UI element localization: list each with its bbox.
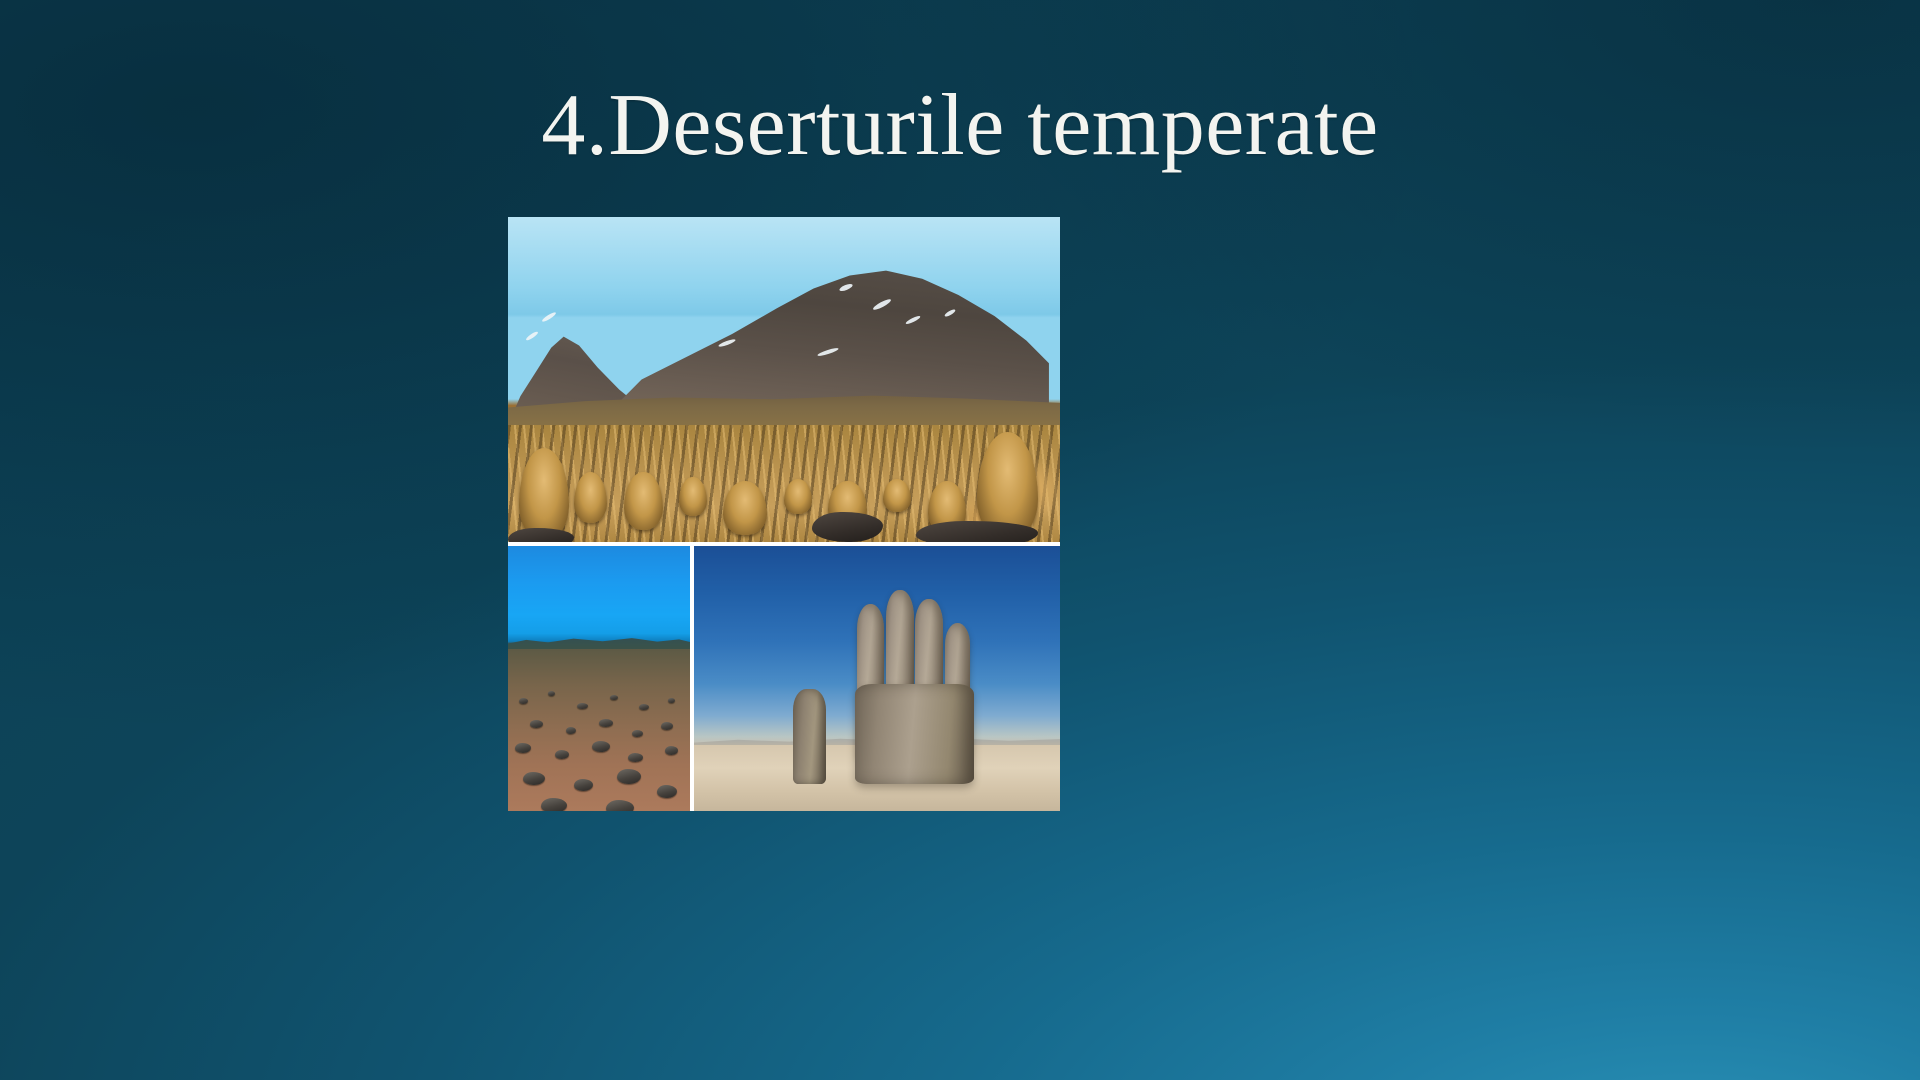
grass-tuft (519, 448, 569, 539)
rock (812, 512, 884, 542)
rock (639, 704, 649, 710)
rock (661, 722, 673, 730)
rock (577, 703, 588, 709)
rock (523, 772, 545, 785)
photo-surface (508, 546, 690, 811)
photo-surface (508, 217, 1060, 542)
image-mountain-altiplano[interactable] (508, 217, 1060, 542)
rock (632, 730, 643, 737)
grass-tuft (784, 479, 812, 514)
sculpture-palm (855, 684, 974, 785)
rock (668, 698, 675, 703)
rock (628, 753, 643, 762)
image-hand-of-the-desert[interactable] (694, 546, 1060, 811)
rock (610, 695, 618, 700)
rock (508, 528, 574, 542)
sculpture-thumb (793, 689, 826, 784)
image-stony-desert[interactable] (508, 546, 690, 811)
grass-tuft (723, 481, 767, 535)
rock (617, 769, 641, 784)
snow-patch (541, 311, 557, 323)
photo-surface (694, 546, 1060, 811)
grass-tuft (679, 477, 707, 517)
rock (519, 698, 528, 704)
page-title: 4.Deserturile temperate (0, 78, 1920, 175)
rock (606, 800, 634, 811)
rock (530, 720, 543, 728)
rock (541, 798, 567, 811)
rock (599, 719, 613, 727)
stony-ground (508, 649, 690, 811)
rock (566, 727, 576, 734)
rock (515, 743, 531, 753)
snow-patch (525, 330, 539, 341)
grass-tuft (883, 479, 911, 512)
grass-tuft (574, 472, 607, 523)
presentation-slide: 4.Deserturile temperate (0, 0, 1920, 1080)
grass-tuft (624, 472, 663, 531)
rock (548, 691, 555, 696)
rock (574, 779, 593, 791)
rock (916, 521, 1037, 542)
collage-bottom-row (508, 546, 1060, 811)
rock (592, 741, 610, 752)
rock (657, 785, 677, 798)
rock (555, 750, 569, 759)
rock (665, 746, 678, 755)
tussock-grass-band (508, 425, 1060, 542)
picture-collage (508, 217, 1060, 811)
